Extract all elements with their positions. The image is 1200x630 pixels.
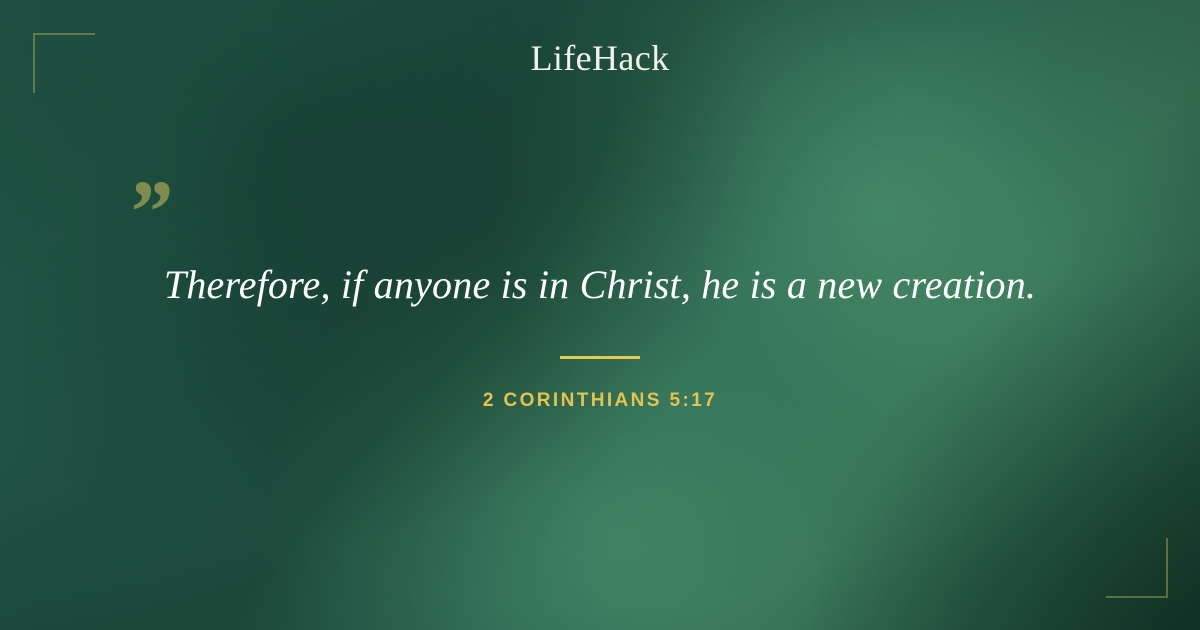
quotation-mark-icon: ”: [126, 168, 171, 258]
divider-rule: [560, 356, 640, 359]
background-shade-bottom-right: [0, 0, 1200, 630]
quote-card: LifeHack ” Therefore, if anyone is in Ch…: [0, 0, 1200, 630]
background-glow-bottom: [0, 0, 1200, 630]
corner-bracket-bottom-right-icon: [1106, 538, 1168, 598]
background-gradient-base: [0, 0, 1200, 630]
background-shade-left: [0, 0, 1200, 630]
quote-body-text: Therefore, if anyone is in Christ, he is…: [100, 258, 1100, 312]
quote-citation: 2 CORINTHIANS 5:17: [0, 389, 1200, 413]
brand-logo: LifeHack: [0, 36, 1200, 80]
background-vignette: [0, 0, 1200, 630]
background-glow-right: [0, 0, 1200, 630]
